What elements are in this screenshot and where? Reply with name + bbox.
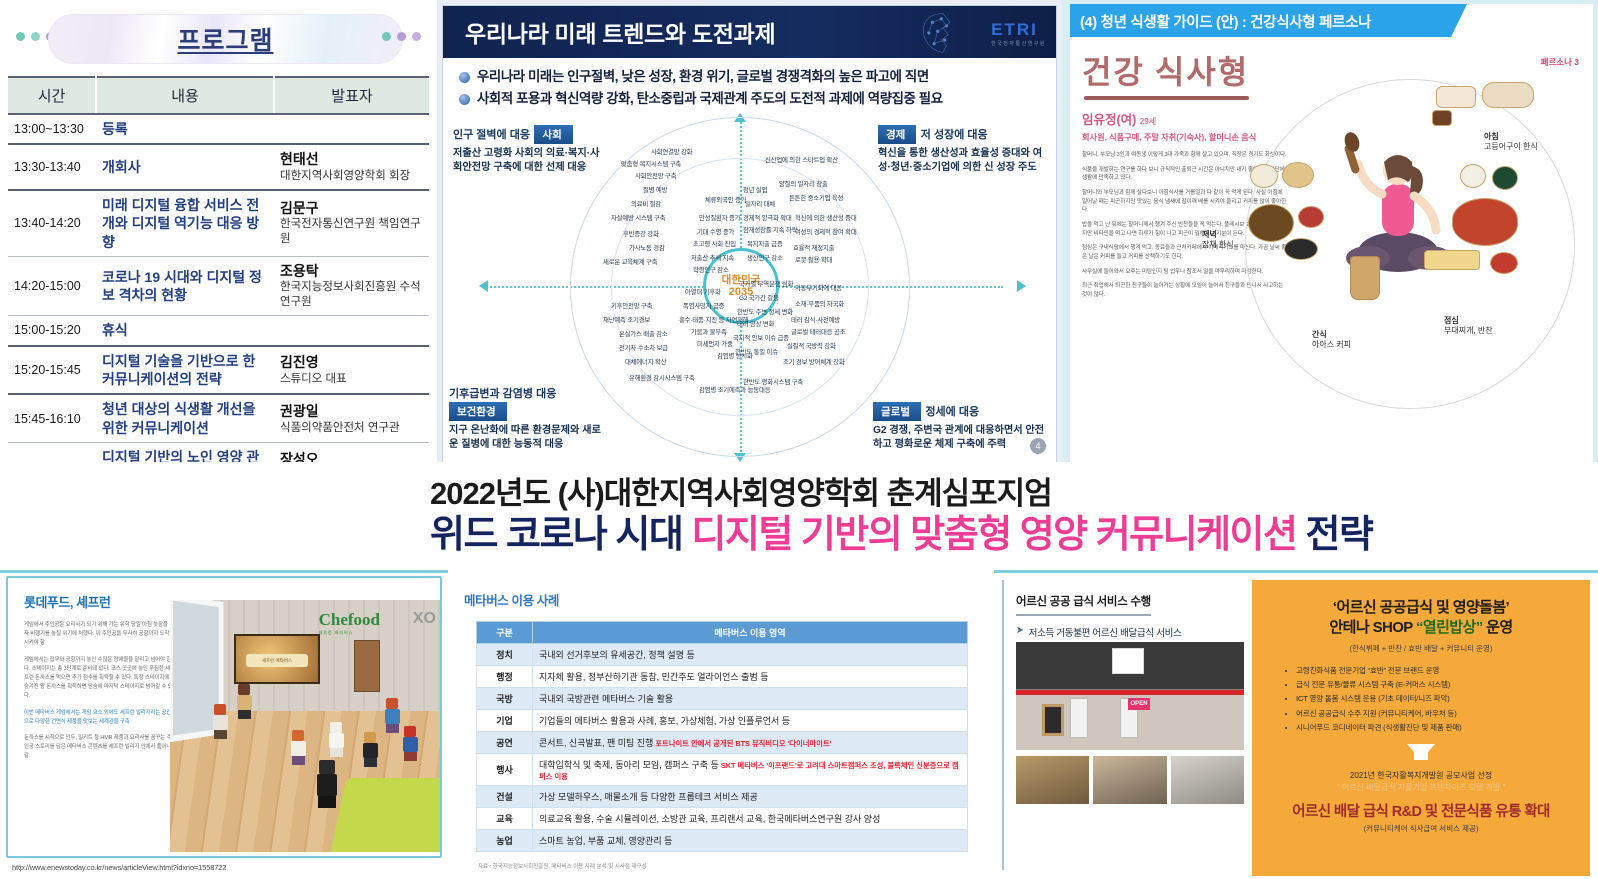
brain-network-icon [916, 10, 970, 56]
dish-icon [1248, 204, 1294, 242]
banner-line2-black: 위드 코로나 시대 [430, 514, 682, 556]
activity-photo-row [1016, 756, 1244, 804]
activity-photo [1171, 756, 1244, 804]
senior-meal-service-slide: 어르신 공공 급식 서비스 수행 ➤ 저소득 거동불편 어르신 배달급식 서비스… [994, 570, 1598, 879]
future-trend-diagram: 대한민국 2035 인구 절벽에 대응 사회 저출산 고령화 사회의 의료·복지… [443, 115, 1056, 460]
diagram-node: 체류외국인 증가 [705, 195, 746, 204]
bullet-dot-icon [459, 72, 470, 83]
cell-speaker: 조용탁한국지능정보사회진흥원 수석연구원 [274, 257, 429, 316]
banner-line2-pink: 디지털 기반의 맞춤형 영양 커뮤니케이션 [691, 514, 1296, 556]
cell-topic: 청년 대상의 식생활 개선을 위한 커뮤니케이션 [96, 394, 274, 442]
game-avatar [384, 698, 400, 732]
antenna-title-line2: 안테나 SHOP “열린밥상” 운영 [1266, 618, 1576, 638]
table-row: 정치국내외 선거후보의 유세공간, 정책 설명 등 [477, 644, 968, 666]
cell-category: 행사 [477, 754, 533, 786]
dish-icon [1284, 238, 1318, 260]
dish-icon [1282, 162, 1314, 188]
diagram-node: 튼튼한 중소기업 육성 [789, 193, 843, 202]
cell-area: 콘서트, 신곡발표, 팬 미팅 진행 포트나이트 안에서 공개된 BTS 뮤직비… [533, 732, 968, 754]
page-title: 프로그램 [177, 21, 273, 57]
table-row: 기업기업들의 메타버스 활용과 사례, 홍보, 가상체험, 가상 인플루언서 등 [477, 710, 968, 732]
diagram-node: 경제적 양극화 확대 [743, 213, 792, 222]
diagram-node: 글로벌 테러대응 공조 [791, 327, 845, 336]
banner-line-1: 2022년도 (사)대한지역사회영양학회 춘계심포지엄 [430, 476, 1598, 512]
award-line-1: 2021년 한국자활복지개발원 공모사업 선정 [1266, 770, 1576, 782]
diagram-node: 유해환경 감시시스템 구축 [629, 373, 695, 382]
game-avatar [290, 730, 306, 764]
article-paragraph: 게임에서 주인공은 요리사가 되기 위해 가는 유학 당일 아침 늦잠을 자 비… [24, 621, 174, 649]
diagram-node: 일자리 대체 [745, 199, 775, 208]
meal-label-dinner: 저녁 잡채 한식 [1202, 230, 1234, 251]
dot-icon [397, 32, 406, 41]
program-header: 프로그램 [8, 6, 429, 72]
antenna-item: ICT 영양 돌봄 시스템 운용 (기초 데이터/니즈 파악) [1296, 692, 1576, 706]
metaverse-heading: 메타버스 이용 사례 [464, 590, 984, 609]
diagram-node: 테러 양상 변화 [737, 319, 774, 328]
game-avatar [316, 760, 338, 806]
speaker-name: 김진영 [280, 353, 423, 371]
xo-logo: XO [413, 610, 436, 628]
speaker-affiliation: 한국지능정보사회진흥원 수석연구원 [280, 280, 423, 310]
dish-icon [1424, 250, 1480, 270]
persona-name-text: 임유정(여) [1082, 113, 1136, 127]
callout-body: 지구 온난화에 따른 환경문제와 새로운 질병에 대한 능동적 대응 [449, 424, 609, 452]
diagram-node: 폭염사망자 급증 [683, 301, 724, 310]
dot-icon [382, 32, 391, 41]
diagram-node: 실질적 국방력 강화 [787, 341, 836, 350]
col-area: 메타버스 이용 영역 [533, 622, 968, 644]
antenna-title-post: 운영 [1483, 619, 1513, 636]
banner-line-2: 위드 코로나 시대 디지털 기반의 맞춤형 영양 커뮤니케이션 전략 [430, 514, 1598, 557]
bullet-item: 우리나라 미래는 인구절벽, 낮은 성장, 환경 위기, 글로벌 경쟁격화의 높… [459, 68, 1042, 87]
diagram-node: 전기차·수소차 보급 [619, 343, 668, 352]
chefood-metaverse-screenshot: 셰프런 메타버스 Chefood 셰프런 메타버스 XO [170, 600, 442, 852]
persona-slide-title: (4) 청년 식생활 가이드 (안) : 건강식사형 페르소나 [1070, 4, 1593, 32]
meal-title: 간식 [1312, 330, 1351, 340]
meal-sub: 고등어구이 한식 [1484, 142, 1538, 152]
table-row: 13:30-13:40개회사현태선대한지역사회영양학회 회장 [8, 144, 429, 189]
senior-heading: 어르신 공공 급식 서비스 수행 [1016, 593, 1151, 616]
chefood-logo: Chefood 셰프런 메타버스 [319, 610, 380, 636]
cell-speaker: 현태선대한지역사회영양학회 회장 [274, 144, 429, 189]
cell-topic: 미래 디지털 융합 서비스 전개와 디지털 역기능 대응 방향 [96, 190, 274, 257]
bullet-dot-icon [459, 94, 470, 105]
game-avatar [236, 684, 252, 718]
cell-area: 가상 모델하우스, 매물소개 등 다양한 프롭테크 서비스 제공 [533, 786, 968, 808]
cell-speaker: 김문구한국전자통신연구원 책임연구원 [274, 190, 429, 257]
game-avatar [402, 726, 418, 760]
diagram-node: 초고령 사회 진입 [693, 239, 736, 248]
table-row: 15:20-15:45디지털 기술을 기반으로 한 커뮤니케이션의 전략김진영스… [8, 346, 429, 395]
callout-tag: 경제 [878, 125, 916, 144]
diagram-node: 질병 예방 [643, 185, 667, 194]
story-paragraph: 할머니, 부모님 3인과 여동생 이렇게 3대 가족과 함께 살고 있으며, 직… [1082, 151, 1287, 160]
antenna-title-highlight: “열린밥상” [1416, 619, 1483, 636]
diagram-node: 자살예방 시스템 구축 [611, 213, 665, 222]
dish-icon [1492, 166, 1518, 190]
diagram-node: 한반도 주변 정세 변화 [737, 307, 793, 316]
antenna-panel-title: ‘어르신 공공급식 및 영양돌봄’ 안테나 SHOP “열린밥상” 운영 [1266, 598, 1576, 639]
diagram-node: 효율적 재정지출 [793, 243, 834, 252]
col-category: 구분 [477, 622, 533, 644]
cell-note: 포트나이트 안에서 공개된 BTS 뮤직비디오 '다이너마이트' [653, 739, 831, 748]
cell-area: 스마트 농업, 부품 교체, 영양관리 등 [533, 830, 968, 852]
diagram-node: 만성질환자 증가 [699, 213, 740, 222]
game-green-mat [330, 778, 442, 852]
callout-health-env: 기후급변과 감염병 대응 보건환경 지구 온난화에 따른 환경문제와 새로운 질… [449, 384, 609, 452]
game-display-screen: 셰프런 메타버스 [234, 634, 320, 684]
etri-trend-slide: 우리나라 미래 트렌드와 도전과제 ETRI 한국전자통신연구원 [437, 0, 1062, 462]
diagram-node: 의료비 절감 [631, 199, 661, 208]
award-text: 2021년 한국자활복지개발원 공모사업 선정 “ 어르신 배달급식 자활기업 … [1266, 770, 1576, 794]
table-row: 국방국내외 국방관련 메타버스 기술 활용 [477, 688, 968, 710]
meal-label-lunch: 점심 부대찌개, 반찬 [1444, 316, 1493, 337]
callout-global: 글로벌 정세에 대응 G2 경쟁, 주변국 관계에 대응하면서 안전하고 평화로… [873, 402, 1048, 452]
dot-icon [16, 32, 25, 41]
etri-logo-text: ETRI [991, 20, 1038, 39]
cell-time: 13:40-14:20 [8, 190, 96, 257]
diagram-node: 혁신에 의한 생산성 증대 [795, 213, 857, 222]
meal-title: 저녁 [1202, 230, 1234, 240]
cell-area: 기업들의 메타버스 활용과 사례, 홍보, 가상체험, 가상 인플루언서 등 [533, 710, 968, 732]
decoration-dots-right [382, 32, 421, 41]
callout-body: G2 경쟁, 주변국 관계에 대응하면서 안전하고 평화로운 체제 구축에 주력 [873, 424, 1048, 452]
cell-topic: 디지털 기술을 기반으로 한 커뮤니케이션의 전략 [96, 346, 274, 395]
divider [994, 570, 1598, 573]
antenna-title-pre: 안테나 SHOP [1329, 619, 1416, 636]
cell-category: 농업 [477, 830, 533, 852]
diagram-node: 재난예측 조기경보 [603, 315, 650, 324]
diagram-node: 감염병 조기예측과 능동대응 [699, 385, 770, 394]
cell-category: 정치 [477, 644, 533, 666]
meal-label-snack: 간식 아아스 커피 [1312, 330, 1351, 351]
meal-circle-diagram: 아침 고등어구이 한식 점심 부대찌개, 반찬 저녁 잡채 한식 간식 아아스 … [1245, 79, 1575, 409]
chefood-logo-sub: 셰프런 메타버스 [319, 630, 380, 636]
callout-body: 혁신을 통한 생산성과 효율성 증대와 여성·청년·중소기업에 의한 신 성장 … [878, 147, 1048, 175]
metaverse-table: 구분 메타버스 이용 영역 정치국내외 선거후보의 유세공간, 정책 설명 등행… [476, 621, 968, 852]
meal-title: 점심 [1444, 316, 1493, 326]
arrow-bullet-icon: ➤ [1016, 625, 1024, 639]
diagram-node: 여성의 경제적 참여 확대 [795, 227, 857, 236]
cell-speaker: 권광일식품의약품안전처 연구관 [274, 394, 429, 442]
slide-collage: 프로그램 시간 내용 발표자 13:00~13:30등록13:30-13:40개… [0, 0, 1598, 879]
banner-line2-black2: 전략 [1306, 514, 1373, 556]
game-door [354, 640, 380, 692]
dish-icon [1490, 252, 1518, 274]
diagram-node: 국지적 안보 이슈 급증 [733, 333, 789, 342]
arrow-left-icon [479, 280, 488, 292]
etri-logo-sub: 한국전자통신연구원 [991, 40, 1046, 47]
antenna-item: 시니어푸드 코디네이터 파견 (식생활진단 및 제품 판매) [1296, 721, 1576, 735]
cell-speaker [274, 114, 429, 144]
down-arrow-icon [1407, 744, 1435, 760]
speaker-name: 조용탁 [280, 262, 423, 280]
table-row: 교육의료교육 활용, 수술 시뮬레이션, 소방관 교육, 프리랜서 교육, 한국… [477, 808, 968, 830]
diagram-node: 기대 수명 증가 [697, 227, 734, 236]
metaverse-usecase-slide: 메타버스 이용 사례 구분 메타버스 이용 영역 정치국내외 선거후보의 유세공… [448, 570, 994, 879]
meal-label-breakfast: 아침 고등어구이 한식 [1484, 132, 1538, 153]
cell-topic: 휴식 [96, 316, 274, 346]
diagram-node: 후반증강 강화 [623, 229, 659, 238]
cell-note: SKT 메타버스 '이프랜드'로 고려대 스마트캠퍼스 조성, 블록체인 신분증… [539, 761, 959, 781]
divider [0, 570, 448, 573]
dish-icon [1436, 86, 1476, 108]
cell-time: 15:45-16:10 [8, 394, 96, 442]
diagram-node: 한반도 평화시스템 구축 [743, 377, 803, 386]
persona-age: 29세 [1140, 117, 1156, 126]
game-screen-caption: 셰프런 메타버스 [246, 654, 308, 667]
dot-icon [31, 32, 40, 41]
article-paragraph: 이번 메타버스 게임에서는 게임 요소 외에도 셰프런 빌리지라는 공간으로 다… [24, 709, 174, 727]
diagram-node: 사회연결망 강화 [651, 147, 692, 156]
metaverse-footnote: 자료 : 한국지능정보사회진흥원, 메타버스 이용 사례 분석 및 시사점 재구… [478, 862, 984, 870]
table-row: 행사대학입학식 및 축제, 동아리 모임, 캠퍼스 구축 등 SKT 메타버스 … [477, 754, 968, 786]
game-avatar [362, 732, 378, 766]
diagram-node: 맞춤형 복지시스템 구축 [621, 159, 681, 168]
diagram-node: 복지지출 급증 [747, 239, 783, 248]
speaker-name: 권광일 [280, 402, 423, 420]
dish-icon [1298, 206, 1324, 228]
antenna-item-list: 고령친화식품 전문기업 “효반” 전문 브랜드 운영급식 전문 유통/물류 시스… [1296, 664, 1576, 736]
meal-title: 아침 [1484, 132, 1538, 142]
etri-slide-title: 우리나라 미래 트렌드와 도전과제 [465, 15, 775, 49]
speaker-affiliation: 한국전자통신연구원 책임연구원 [280, 217, 423, 247]
diagram-node: 대체에너지 확산 [625, 357, 666, 366]
col-time: 시간 [8, 77, 96, 114]
cell-area: 대학입학식 및 축제, 동아리 모임, 캠퍼스 구축 등 SKT 메타버스 '이… [533, 754, 968, 786]
activity-photo [1016, 756, 1089, 804]
diagram-node: 새로운 교육체계 구축 [603, 257, 657, 266]
diagram-node: 학령인구 감소 [693, 265, 729, 274]
callout-head: 기후급변과 감염병 대응 [449, 385, 556, 401]
article-paragraph: 돈까스를 시작으로 만두, 밀키트 등 HMR 제품과 요리사를 꿈꾸는 주인공… [24, 734, 174, 762]
meal-sub: 잡채 한식 [1202, 240, 1234, 250]
cell-topic: 코로나 19 시대와 디지털 정보 격차의 현황 [96, 257, 274, 316]
cell-speaker [274, 316, 429, 346]
diagram-node: 소재·부품의 자국화 [795, 299, 844, 308]
diagram-node: 자동무기화에 대응 [795, 283, 842, 292]
callout-head: 저 성장에 대응 [921, 126, 988, 142]
antenna-subtitle: (한식뷔페 + 반찬 / 효반 배달 + 커뮤니티 운영) [1266, 643, 1576, 654]
cell-category: 국방 [477, 688, 533, 710]
cell-area: 국내외 국방관련 메타버스 기술 활용 [533, 688, 968, 710]
menu-chalkboard [1042, 704, 1064, 736]
antenna-shop-panel: ‘어르신 공공급식 및 영양돌봄’ 안테나 SHOP “열린밥상” 운영 (한식… [1252, 580, 1590, 876]
dot-icon [412, 32, 421, 41]
cell-category: 행정 [477, 666, 533, 688]
activity-photo [1093, 756, 1166, 804]
iced-coffee-icon [1350, 256, 1380, 300]
page-number-badge: 4 [1030, 438, 1046, 454]
speaker-name: 김문구 [280, 199, 423, 217]
program-title-pill: 프로그램 [48, 14, 403, 64]
dish-icon [1460, 164, 1486, 188]
cell-speaker: 김진영스튜디오 대표 [274, 346, 429, 395]
table-row: 15:00-15:20휴식 [8, 316, 429, 346]
diagram-node: 한반도 통일 이슈 [735, 347, 778, 356]
cell-time: 13:00~13:30 [8, 114, 96, 144]
col-speaker: 발표자 [274, 77, 429, 114]
speaker-affiliation: 식품의약품안전처 연구관 [280, 421, 423, 436]
senior-bullet-text: 저소득 거동불편 어르신 배달급식 서비스 [1029, 625, 1182, 639]
diagram-node: 아열대 기후화 [685, 287, 721, 296]
meal-sub: 부대찌개, 반찬 [1444, 326, 1493, 336]
diagram-node: 국가별 무역분쟁 심화 [739, 279, 793, 288]
speaker-affiliation: 대한지역사회영양학회 회장 [280, 169, 423, 184]
bullet-text: 우리나라 미래는 인구절벽, 낮은 성장, 환경 위기, 글로벌 경쟁격화의 높… [477, 68, 929, 87]
cell-area: 지자체 활용, 정부산하기관 동참, 민간주도 얼라이언스 출범 등 [533, 666, 968, 688]
callout-economy: 경제 저 성장에 대응 혁신을 통한 생산성과 효율성 증대와 여성·청년·중소… [878, 125, 1048, 175]
cell-category: 교육 [477, 808, 533, 830]
callout-society: 인구 절벽에 대응 사회 저출산 고령화 사회의 의료·복지·사회안전망 구축에… [453, 125, 603, 175]
etri-title-bar: 우리나라 미래 트렌드와 도전과제 ETRI 한국전자통신연구원 [443, 6, 1056, 58]
store-awning-stripe [1016, 690, 1244, 695]
antenna-item: 어르신 공공급식 수주 지원 (커뮤니티케어, 바우처 등) [1296, 707, 1576, 721]
etri-bullet-list: 우리나라 미래는 인구절벽, 낮은 성장, 환경 위기, 글로벌 경쟁격화의 높… [443, 58, 1056, 115]
diagram-node: 가사노동 경감 [629, 243, 665, 252]
cell-category: 공연 [477, 732, 533, 754]
diagram-node: 기후안전망 구축 [611, 301, 652, 310]
table-header-row: 시간 내용 발표자 [8, 77, 429, 114]
cell-area: 국내외 선거후보의 유세공간, 정책 설명 등 [533, 644, 968, 666]
antenna-item: 급식 전문 유통/물류 시스템 구축 (E-커머스 시스템) [1296, 678, 1576, 692]
game-avatar [212, 704, 228, 738]
diagram-node: 로봇 활용 확대 [795, 255, 832, 264]
cell-area: 의료교육 활용, 수술 시뮬레이션, 소방관 교육, 프리랜서 교육, 한국메타… [533, 808, 968, 830]
table-row: 13:00~13:30등록 [8, 114, 429, 144]
result-subtitle: (커뮤니티케어 식사급여 서비스 제공) [1266, 823, 1576, 834]
table-row: 15:45-16:10청년 대상의 식생활 개선을 위한 커뮤니케이션권광일식품… [8, 394, 429, 442]
chefood-logo-text: Chefood [319, 610, 380, 629]
persona-slide: (4) 청년 식생활 가이드 (안) : 건강식사형 페르소나 페르소나 3 건… [1062, 0, 1598, 462]
diagram-node: 가뭄과 물부족 [691, 327, 727, 336]
diagram-node: 양질의 일자리 창출 [779, 179, 828, 188]
col-content: 내용 [96, 77, 274, 114]
result-title: 어르신 배달 급식 R&D 및 전문식품 유통 확대 [1266, 800, 1576, 821]
lotte-article-text: 게임에서 주인공은 요리사가 되기 위해 가는 유학 당일 아침 늦잠을 자 비… [24, 621, 174, 768]
table-row: 13:40-14:20미래 디지털 융합 서비스 전개와 디지털 역기능 대응 … [8, 190, 429, 257]
senior-bullet: ➤ 저소득 거동불편 어르신 배달급식 서비스 [1016, 625, 1242, 639]
dish-icon [1250, 164, 1278, 188]
etri-logo: ETRI 한국전자통신연구원 [991, 20, 1046, 47]
symposium-banner: 2022년도 (사)대한지역사회영양학회 춘계심포지엄 위드 코로나 시대 디지… [0, 462, 1598, 570]
diagram-node: 사회안전망 구축 [635, 171, 676, 180]
cell-topic: 등록 [96, 114, 274, 144]
dish-icon [1432, 110, 1452, 126]
table-row: 건설가상 모델하우스, 매물소개 등 다양한 프롭테크 서비스 제공 [477, 786, 968, 808]
cell-category: 기업 [477, 710, 533, 732]
cell-category: 건설 [477, 786, 533, 808]
cell-time: 13:30-13:40 [8, 144, 96, 189]
antenna-title-line1: ‘어르신 공공급식 및 영양돌봄’ [1266, 598, 1576, 618]
diagram-node: 신산업에 의한 스타트업 확산 [765, 155, 838, 164]
title-underline [1084, 96, 1249, 100]
diagram-node: 생산인구 감소 [747, 253, 783, 262]
cell-time: 14:20-15:00 [8, 257, 96, 316]
table-row: 행정지자체 활용, 정부산하기관 동참, 민간주도 얼라이언스 출범 등 [477, 666, 968, 688]
callout-head: 정세에 대응 [925, 403, 979, 419]
arrow-right-icon [1017, 280, 1026, 292]
diagram-node: 온실가스 배출 감소 [619, 329, 668, 338]
bullet-text: 사회적 포용과 혁신역량 강화, 탄소중립과 국제관계 주도의 도전적 과제에 … [477, 90, 943, 109]
callout-body: 저출산 고령화 사회의 의료·복지·사회안전망 구축에 대한 선제 대응 [453, 147, 603, 175]
callout-head: 인구 절벽에 대응 [453, 126, 530, 142]
dish-icon [1482, 82, 1534, 108]
diagram-node: 조기 경보 방어체계 강화 [783, 357, 845, 366]
table-row: 14:20-15:00코로나 19 시대와 디지털 정보 격차의 현황조용탁한국… [8, 257, 429, 316]
diagram-node: 테러 감식·사전예방 [791, 315, 840, 324]
table-row: 공연콘서트, 신곡발표, 팬 미팅 진행 포트나이트 안에서 공개된 BTS 뮤… [477, 732, 968, 754]
cell-time: 15:00-15:20 [8, 316, 96, 346]
lotte-chefood-slide: 롯데푸드, 셰프런 게임에서 주인공은 요리사가 되기 위해 가는 유학 당일 … [0, 570, 448, 879]
diagram-node: 저출산 추세 지속 [691, 253, 734, 262]
award-line-2: “ 어르신 배달급식 자활기업 프랜차이즈 모델 개발 ” [1266, 782, 1576, 794]
open-sign: OPEN [1128, 698, 1150, 710]
callout-tag: 글로벌 [873, 402, 921, 421]
antenna-item: 고령친화식품 전문기업 “효반” 전문 브랜드 운영 [1296, 664, 1576, 678]
diagram-node: 청년 실업 [743, 185, 767, 194]
persona-title-bar: (4) 청년 식생활 가이드 (안) : 건강식사형 페르소나 [1070, 4, 1593, 37]
speaker-name: 현태선 [280, 150, 423, 168]
store-sign [1112, 648, 1144, 674]
bullet-item: 사회적 포용과 혁신역량 강화, 탄소중립과 국제관계 주도의 도전적 과제에 … [459, 90, 1042, 109]
source-url[interactable]: http://www.enewstoday.co.kr/news/article… [6, 858, 442, 872]
callout-tag: 사회 [534, 125, 572, 144]
standing-banner [1070, 698, 1088, 738]
speaker-affiliation: 스튜디오 대표 [280, 372, 423, 387]
cell-time: 15:20-15:45 [8, 346, 96, 395]
game-avatar [328, 722, 344, 756]
callout-tag: 보건환경 [449, 402, 507, 421]
diagram-node: 잠재성장률 지속 하락 [743, 225, 797, 234]
cell-topic: 개회사 [96, 144, 274, 189]
storefront-photo: OPEN [1016, 642, 1244, 750]
dish-icon [1452, 198, 1518, 246]
table-header-row: 구분 메타버스 이용 영역 [477, 622, 968, 644]
table-row: 농업스마트 농업, 부품 교체, 영양관리 등 [477, 830, 968, 852]
meal-sub: 아아스 커피 [1312, 340, 1351, 350]
article-paragraph: 게임에서는 잡무와 공항까지 놓인 수많은 장애물을 달리고 넘어야 한다. 스… [24, 656, 174, 702]
diagram-node: 미세먼지 가중 [697, 339, 733, 348]
diagram-node: G2 국가간 갈등 [739, 293, 779, 302]
